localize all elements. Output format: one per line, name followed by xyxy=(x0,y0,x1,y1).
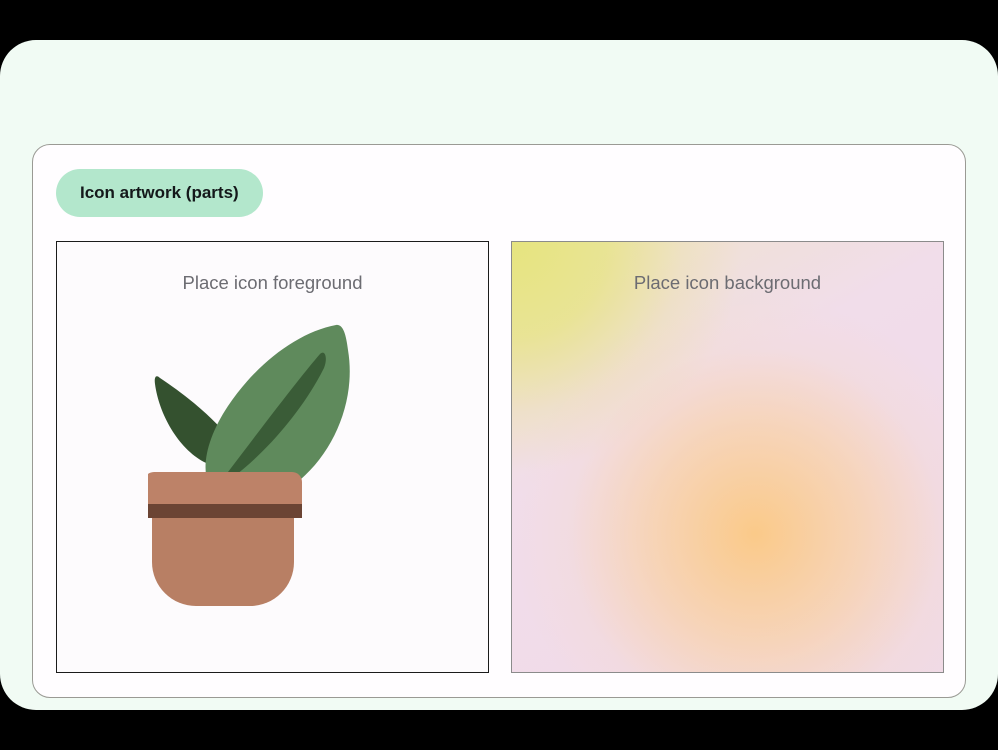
icon-foreground-dropzone[interactable]: Place icon foreground xyxy=(56,241,489,673)
pot-body-shape xyxy=(152,518,294,606)
icon-foreground-label: Place icon foreground xyxy=(57,272,488,294)
content-card: Icon artwork (parts) Place icon foregrou… xyxy=(32,144,966,698)
section-badge: Icon artwork (parts) xyxy=(56,169,263,217)
icon-background-dropzone[interactable]: Place icon background xyxy=(511,241,944,673)
outer-frame: Icon artwork (parts) Place icon foregrou… xyxy=(0,40,998,710)
section-badge-label: Icon artwork (parts) xyxy=(80,183,239,203)
pot-band-shape xyxy=(148,504,302,518)
icon-background-label: Place icon background xyxy=(512,272,943,294)
potted-plant-icon xyxy=(148,320,398,610)
panels-row: Place icon foreground Plac xyxy=(56,241,944,673)
